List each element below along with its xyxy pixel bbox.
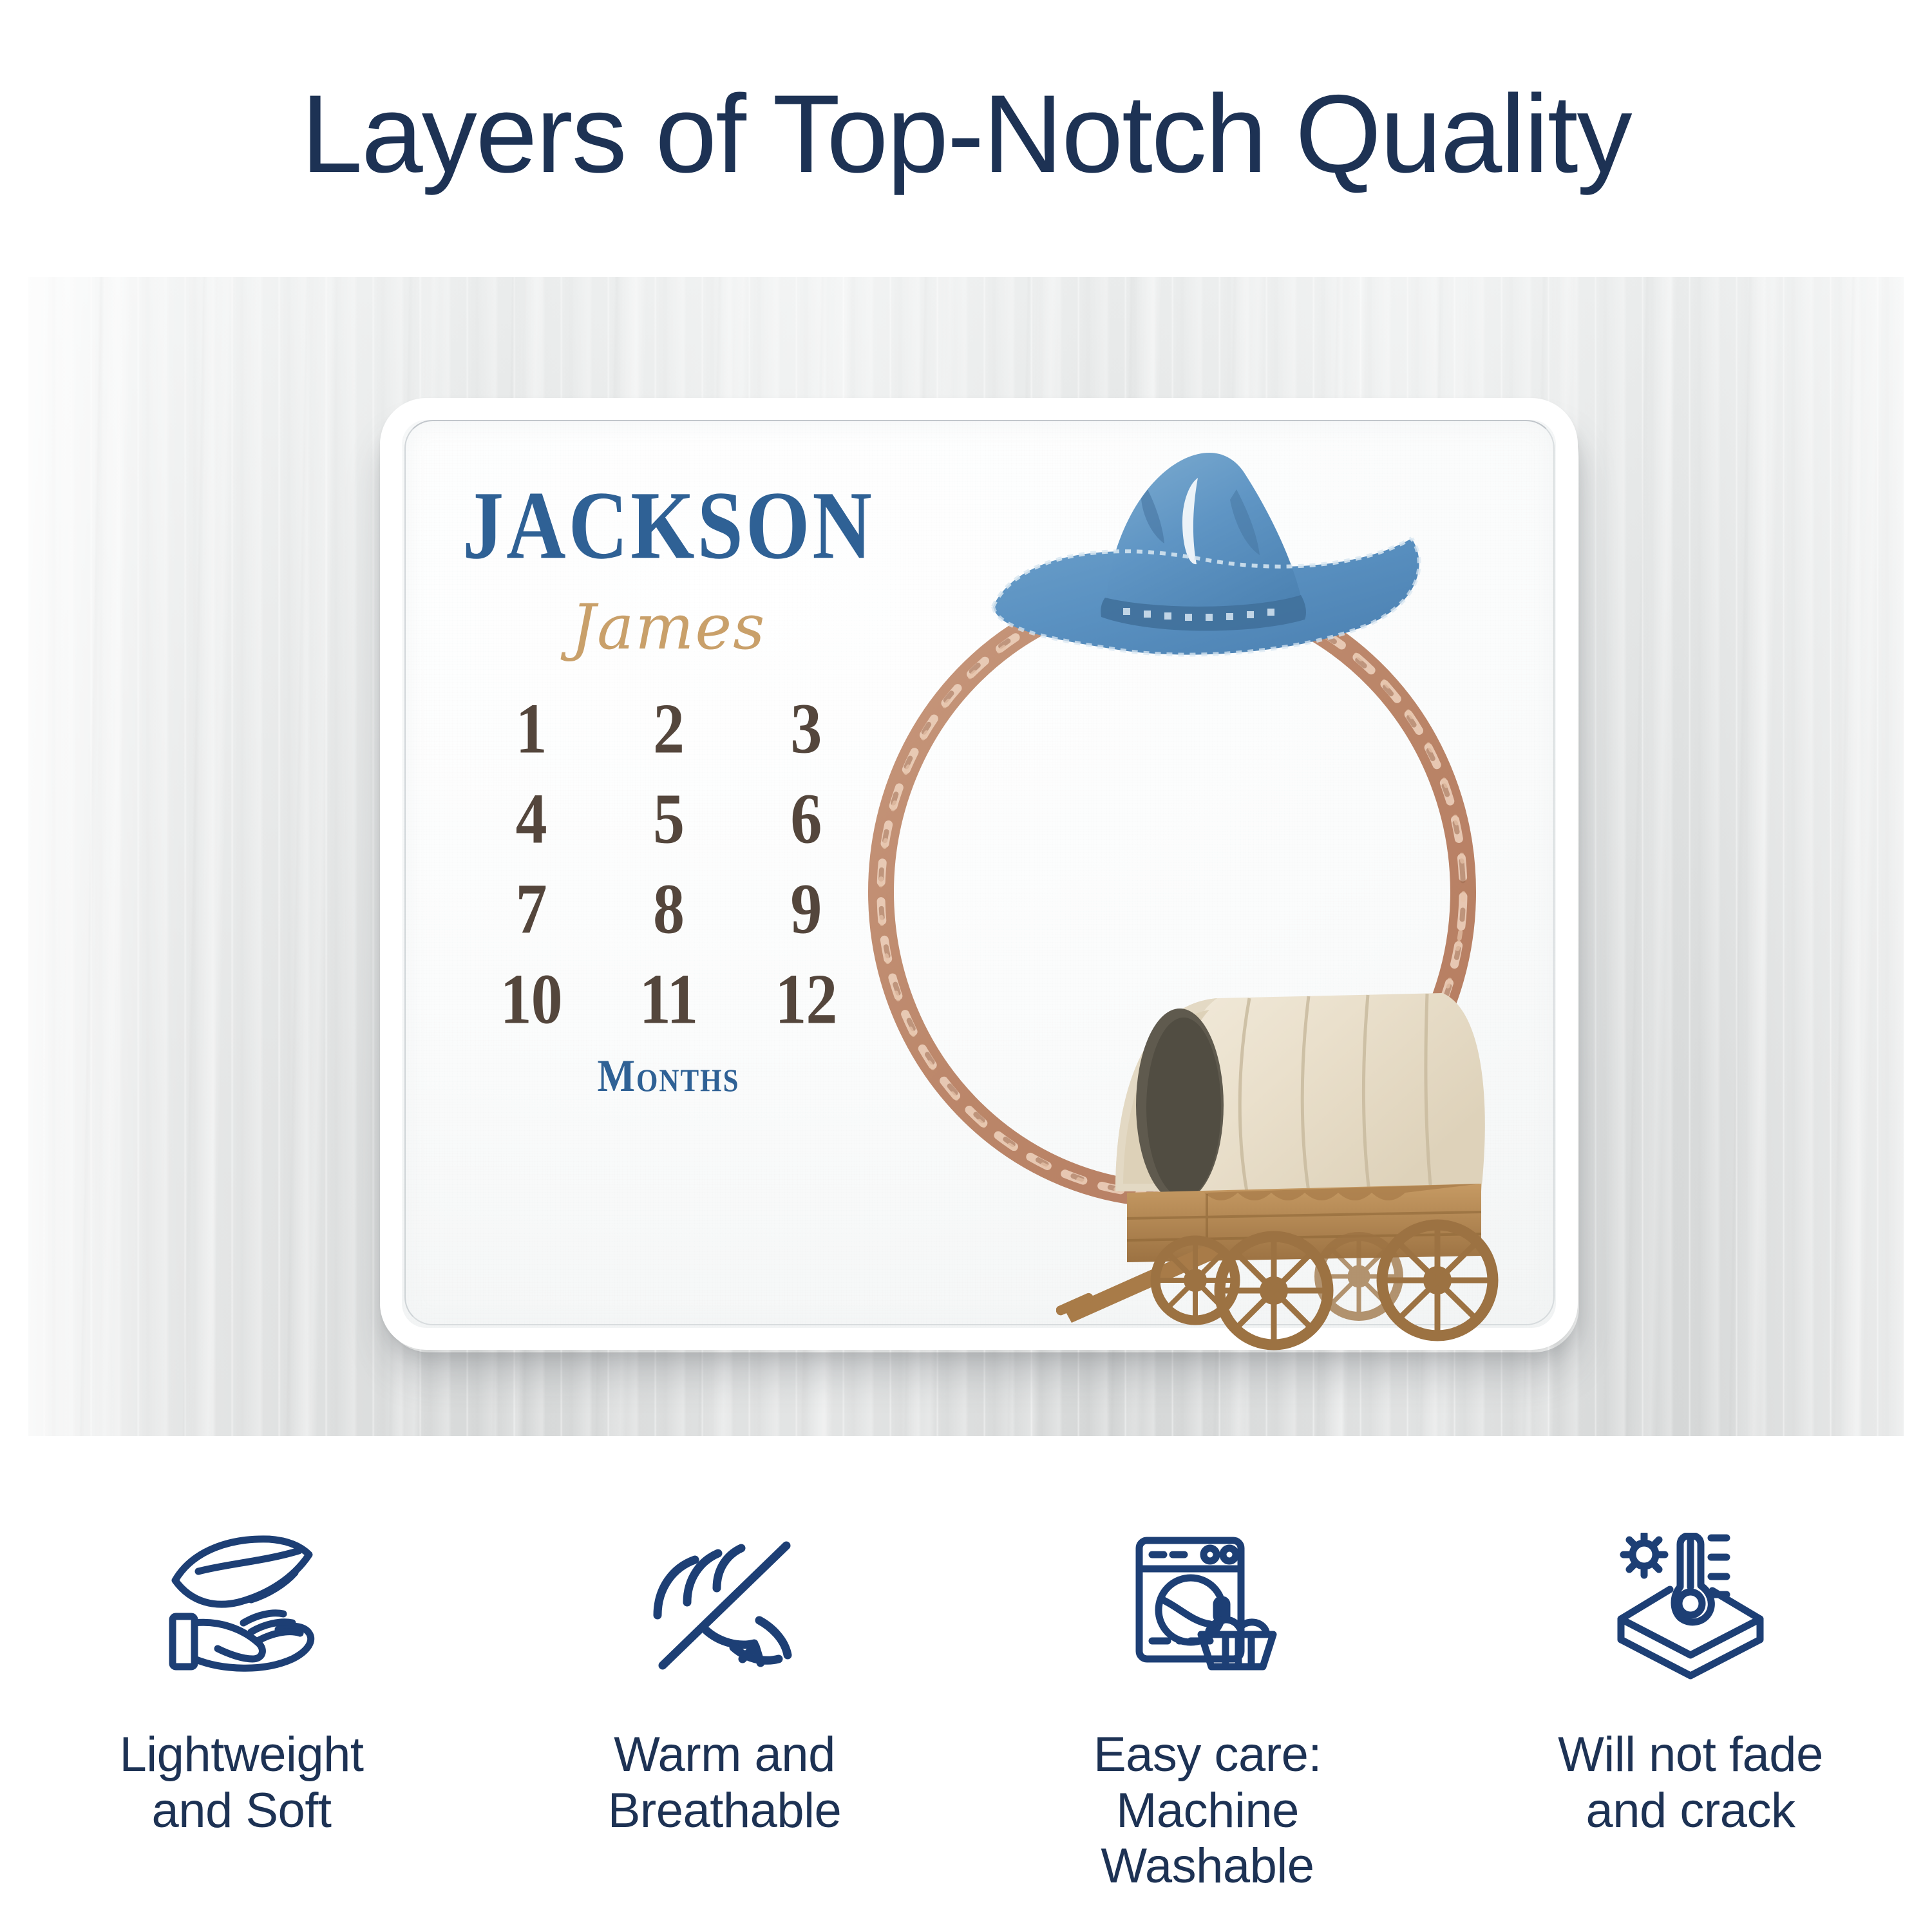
marketing-image: Layers of Top-Notch Quality JACKSON Jame… [0,0,1932,1932]
feature-caption: Easy care: Machine Washable [1008,1727,1407,1895]
feature-caption: Lightweight and Soft [120,1727,364,1839]
feature-item: Warm and Breathable [525,1520,924,1839]
blanket-middle-name: James [462,596,875,658]
feature-item: Easy care: Machine Washable [1008,1520,1407,1895]
milestone-number: 10 [462,948,600,1051]
blanket-first-name: JACKSON [462,477,875,574]
sun-thermometer-layer-icon [1607,1520,1774,1694]
months-label: Months [462,1053,875,1099]
milestone-number: 7 [462,858,600,961]
milestone-number-grid: 1 2 3 4 5 6 7 8 9 10 11 12 [462,684,875,1045]
breathable-airflow-icon [641,1520,808,1694]
feature-caption: Warm and Breathable [608,1727,842,1839]
milestone-number: 8 [600,858,737,961]
milestone-number: 4 [462,768,600,871]
milestone-number: 11 [600,948,737,1051]
milestone-number: 1 [462,677,600,781]
hand-feather-icon [158,1520,325,1694]
milestone-number: 5 [600,768,737,871]
covered-wagon-icon [1056,979,1501,1352]
cowboy-hat-icon [979,444,1436,689]
feature-strip: Lightweight and Soft Warm and Breathable [0,1520,1932,1919]
feature-caption: Will not fade and crack [1558,1727,1823,1839]
milestone-number: 2 [600,677,737,781]
blanket-name-block: JACKSON James 1 2 3 4 5 6 7 8 9 10 11 12… [462,477,875,1314]
feature-item: Will not fade and crack [1491,1520,1890,1839]
page-title: Layers of Top-Notch Quality [0,76,1932,193]
washing-machine-icon [1124,1520,1291,1694]
feature-item: Lightweight and Soft [42,1520,441,1839]
